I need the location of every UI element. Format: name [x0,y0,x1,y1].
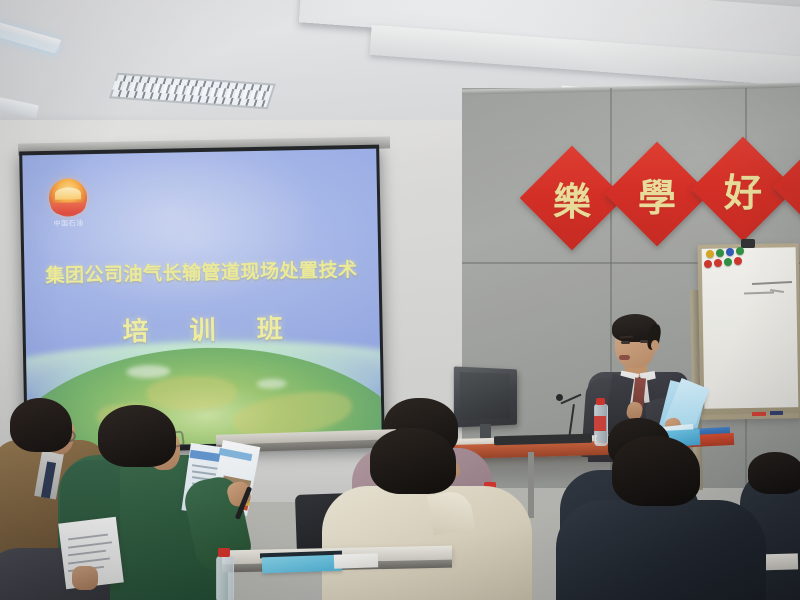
cnpc-logo: 中国石油 [45,178,92,227]
magnet-icon [716,249,724,257]
wall-placard: 學 [605,142,710,247]
placard-character [788,150,800,224]
attendee-hair [748,452,800,494]
cnpc-logo-ray-icon [55,187,81,199]
marker-icon [752,412,766,416]
placard-character: 樂 [535,161,609,235]
attendee-hair [98,405,176,467]
monitor-screen [460,372,510,420]
whiteboard-surface [702,247,799,409]
magnet-icon [724,258,732,266]
blue-folder [262,555,343,574]
attendee-hair [612,436,700,506]
water-bottle [216,556,234,600]
water-bottle-cap [596,398,605,405]
magnet-icon [706,250,714,258]
water-bottle-cap [218,548,230,557]
placard-character: 好 [706,152,780,226]
magnet-icon [726,248,734,256]
microphone-icon [556,394,563,401]
presenter-eye [621,341,630,344]
earth-landmass [147,375,238,411]
magnet-icon [736,247,744,255]
whiteboard-clip [741,239,755,248]
magnet-icon [714,259,722,267]
attendee-hand [72,566,98,590]
magnet-icon [704,260,712,268]
placard-character: 學 [620,157,694,231]
marker-icon [770,411,783,415]
attendee-dark-suit-front [556,500,766,600]
cnpc-logo-caption: 中国石油 [45,218,91,229]
desk-paper [334,553,378,569]
attendee-cream-jacket [322,486,532,600]
attendee-hair [10,398,72,452]
cnpc-logo-wave-icon [50,202,86,215]
presenter-eye [640,340,648,343]
presenter-mouth [619,355,630,360]
classroom-photograph: 樂 學 好 中国石油 [0,0,800,600]
magnet-icon [734,257,742,265]
projection-screen: 中国石油 集团公司油气长输管道现场处置技术 培 训 班 [22,149,382,448]
water-bottle-label [594,416,606,431]
attendee-hair [370,428,456,494]
slide-subtitle: 培 训 班 [25,307,380,351]
podium-leg [528,452,534,518]
presenter-ear [651,340,659,351]
